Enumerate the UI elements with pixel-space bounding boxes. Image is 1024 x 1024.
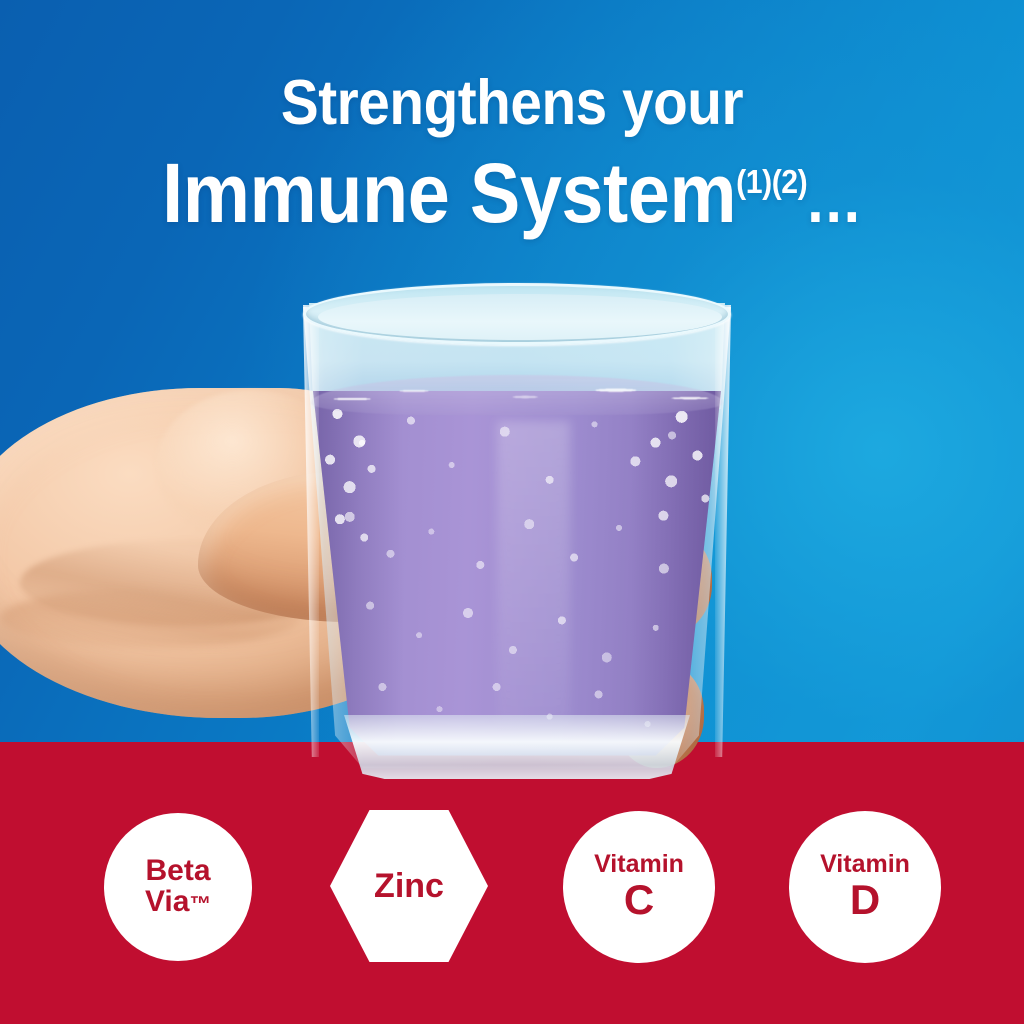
glass-rim [303, 283, 731, 345]
glass-rim-inner [318, 294, 722, 340]
badge-vitamin-c[interactable]: Vitamin C [563, 811, 715, 963]
badge-betavia-line-2: Via™ [145, 887, 211, 918]
badge-betavia-line-1: Beta [145, 856, 210, 887]
headline: Strengthens your Immune System(1)(2)... [0, 68, 1024, 245]
glass-edge-left [303, 307, 319, 757]
glass-edge-right [715, 307, 731, 757]
badge-vitamin-c-line-1: Vitamin [594, 852, 684, 878]
headline-ellipsis: ... [807, 163, 862, 236]
headline-line-2-main: Immune System [162, 146, 736, 240]
headline-line-1: Strengthens your [51, 68, 973, 138]
trademark-symbol: ™ [189, 891, 211, 916]
badge-vitamin-d-line-1: Vitamin [820, 852, 910, 878]
badge-vitamin-d-line-2: D [850, 879, 880, 922]
badge-betavia-line-2-text: Via [145, 885, 190, 918]
badge-zinc[interactable]: Zinc [330, 810, 488, 962]
badge-vitamin-c-line-2: C [624, 879, 654, 922]
drinking-glass [303, 283, 731, 783]
promo-banner: Strengthens your Immune System(1)(2)... [0, 0, 1024, 1024]
glass-base [333, 715, 701, 779]
badge-betavia[interactable]: Beta Via™ [104, 813, 252, 961]
headline-superscript-refs: (1)(2) [736, 164, 807, 201]
headline-line-2: Immune System(1)(2)... [51, 138, 973, 245]
badge-vitamin-d[interactable]: Vitamin D [789, 811, 941, 963]
purple-fizzy-liquid [313, 391, 721, 761]
ingredient-badges: Beta Via™ Zinc Vitamin C Vitamin D [0, 808, 1024, 968]
badge-zinc-label: Zinc [374, 869, 444, 904]
